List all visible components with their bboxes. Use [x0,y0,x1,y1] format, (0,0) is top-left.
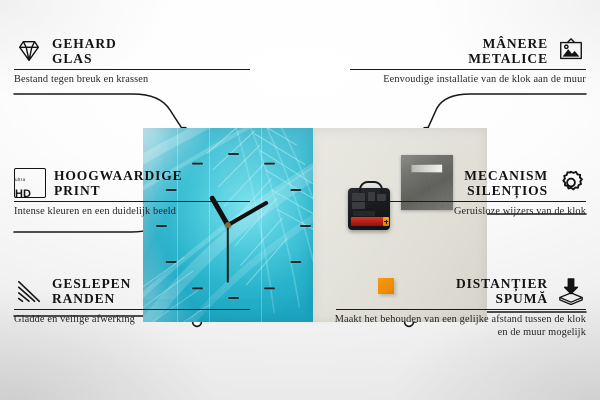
clock-second-hand [227,225,229,283]
callout-divider [14,69,250,70]
callout-gehard-glas: GEHARD GLAS Bestand tegen breuk en krass… [14,36,274,87]
picture-hanger-icon [556,37,586,65]
callout-title: GEHARD GLAS [52,36,117,66]
callout-divider [350,69,586,70]
callout-divider [14,309,250,310]
callout-divider [336,309,586,310]
callout-title: MÂNERE METALICE [468,36,548,66]
callout-manere-metalice: MÂNERE METALICE Eenvoudige installatie v… [326,36,586,87]
callout-subtitle: Maakt het behouden van een gelijke afsta… [326,314,586,339]
callout-title: GESLEPEN RANDEN [52,276,131,306]
callout-geslepen-randen: GESLEPEN RANDEN Gladde en veilige afwerk… [14,276,274,327]
callout-divider [350,201,586,202]
callout-title: MECANISM SILENȚIOS [464,168,548,198]
callout-subtitle: Eenvoudige installatie van de klok aan d… [326,74,586,87]
gear-icon [556,169,586,197]
callout-subtitle: Intense kleuren en een duidelijk beeld [14,206,274,219]
infographic-canvas: GEHARD GLAS Bestand tegen breuk en krass… [0,0,600,400]
polished-edges-icon [14,277,44,305]
callout-divider [14,201,250,202]
callout-hoogwaardige-print: ultra HD HOOGWAARDIGE PRINT Intense kleu… [14,168,274,219]
callout-subtitle: Geruisloze wijzers van de klok [326,206,586,219]
connector-gehard-glas [14,94,183,130]
callout-title: DISTANȚIER SPUMĂ [456,276,548,306]
callout-subtitle: Gladde en veilige afwerking [14,314,274,327]
connector-manere-metalice [427,94,586,130]
clock-center-pivot [225,222,231,228]
ultra-hd-icon: ultra HD [14,168,46,198]
spacer-press-icon [556,277,586,305]
callout-subtitle: Bestand tegen breuk en krassen [14,74,274,87]
callout-mecanism-silentios: MECANISM SILENȚIOS Geruisloze wijzers va… [326,168,586,219]
callout-distantier-spuma: DISTANȚIER SPUMĂ Maakt het behouden van … [326,276,586,339]
callout-title: HOOGWAARDIGE PRINT [54,168,183,198]
diamond-icon [14,37,44,65]
